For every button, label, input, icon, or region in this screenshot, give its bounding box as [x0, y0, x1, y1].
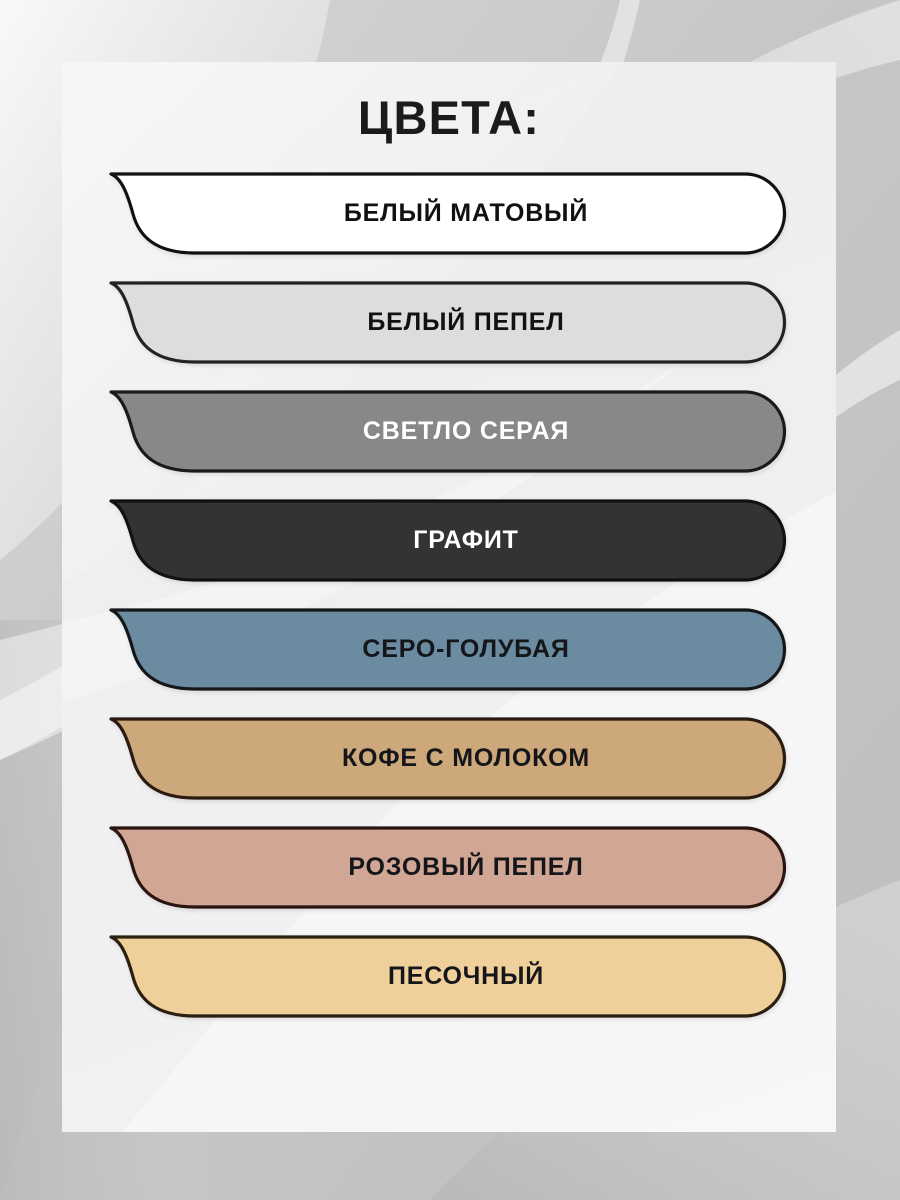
swatch-shape	[111, 937, 785, 1016]
color-swatch-item[interactable]: ГРАФИТ	[109, 497, 789, 584]
color-card: ЦВЕТА: БЕЛЫЙ МАТОВЫЙ БЕЛЫЙ ПЕПЕЛ	[62, 62, 836, 1132]
color-swatch-item[interactable]: КОФЕ С МОЛОКОМ	[109, 715, 789, 802]
swatch-shape	[111, 392, 785, 471]
color-swatch-list: БЕЛЫЙ МАТОВЫЙ БЕЛЫЙ ПЕПЕЛ СВЕТЛО СЕРАЯ	[62, 170, 836, 1042]
swatch-shape	[111, 174, 785, 253]
swatch-shape	[111, 828, 785, 907]
swatch-shape	[111, 610, 785, 689]
page-title: ЦВЕТА:	[62, 90, 836, 145]
swatch-card-canvas: ЦВЕТА: БЕЛЫЙ МАТОВЫЙ БЕЛЫЙ ПЕПЕЛ	[0, 0, 900, 1200]
color-swatch-item[interactable]: СВЕТЛО СЕРАЯ	[109, 388, 789, 475]
color-swatch-item[interactable]: РОЗОВЫЙ ПЕПЕЛ	[109, 824, 789, 911]
swatch-shape	[111, 501, 785, 580]
color-swatch-item[interactable]: ПЕСОЧНЫЙ	[109, 933, 789, 1020]
swatch-shape	[111, 719, 785, 798]
swatch-shape	[111, 283, 785, 362]
color-swatch-item[interactable]: БЕЛЫЙ МАТОВЫЙ	[109, 170, 789, 257]
color-swatch-item[interactable]: БЕЛЫЙ ПЕПЕЛ	[109, 279, 789, 366]
color-swatch-item[interactable]: СЕРО-ГОЛУБАЯ	[109, 606, 789, 693]
